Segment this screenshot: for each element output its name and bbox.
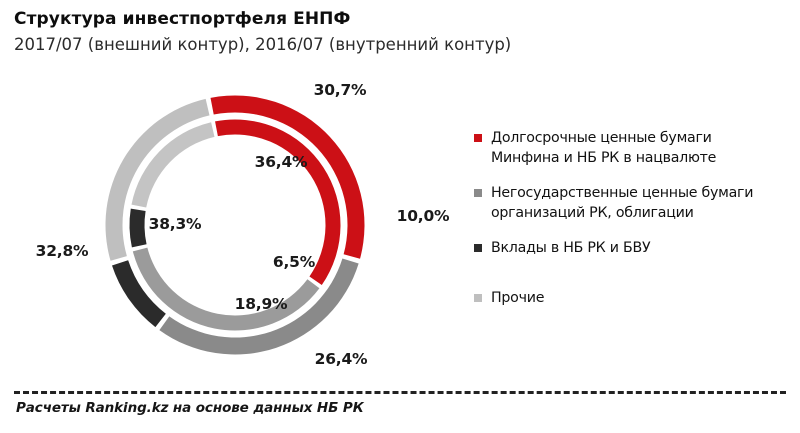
legend-item-label: Негосударственные ценные бумаги организа… (491, 183, 753, 223)
donut-segment[interactable] (106, 99, 210, 261)
legend-swatch-icon (474, 134, 482, 142)
legend-item[interactable]: Прочие (474, 288, 794, 308)
slice-percentage-label: 30,7% (314, 81, 367, 99)
legend-item-label: Вклады в НБ РК и БВУ (491, 238, 650, 258)
legend-item[interactable]: Негосударственные ценные бумаги организа… (474, 183, 794, 223)
slice-percentage-label: 36,4% (255, 153, 308, 171)
legend-item-label: Долгосрочные ценные бумаги Минфина и НБ … (491, 128, 716, 168)
slice-percentage-label: 10,0% (397, 207, 450, 225)
chart-legend: Долгосрочные ценные бумаги Минфина и НБ … (474, 128, 794, 323)
legend-swatch-icon (474, 244, 482, 252)
legend-item[interactable]: Долгосрочные ценные бумаги Минфина и НБ … (474, 128, 794, 168)
chart-header: Структура инвестпортфеля ЕНПФ 2017/07 (в… (14, 8, 574, 57)
slice-percentage-label: 38,3% (149, 215, 202, 233)
slice-percentage-label: 6,5% (273, 253, 315, 271)
donut-segment[interactable] (130, 209, 147, 248)
donut-chart: 30,7%36,4%10,0%6,5%18,9%26,4%38,3%32,8% (0, 62, 470, 380)
slice-percentage-label: 26,4% (315, 350, 368, 368)
slice-percentage-label: 18,9% (235, 295, 288, 313)
legend-item[interactable]: Вклады в НБ РК и БВУ (474, 238, 794, 258)
legend-swatch-icon (474, 189, 482, 197)
chart-page: Структура инвестпортфеля ЕНПФ 2017/07 (в… (0, 0, 800, 433)
page-title: Структура инвестпортфеля ЕНПФ (14, 8, 574, 30)
legend-swatch-icon (474, 294, 482, 302)
legend-item-label: Прочие (491, 288, 544, 308)
source-note: Расчеты Ranking.kz на основе данных НБ Р… (16, 400, 364, 416)
slice-percentage-label: 32,8% (36, 242, 89, 260)
page-subtitle: 2017/07 (внешний контур), 2016/07 (внутр… (14, 33, 574, 57)
footer-divider (14, 391, 786, 394)
